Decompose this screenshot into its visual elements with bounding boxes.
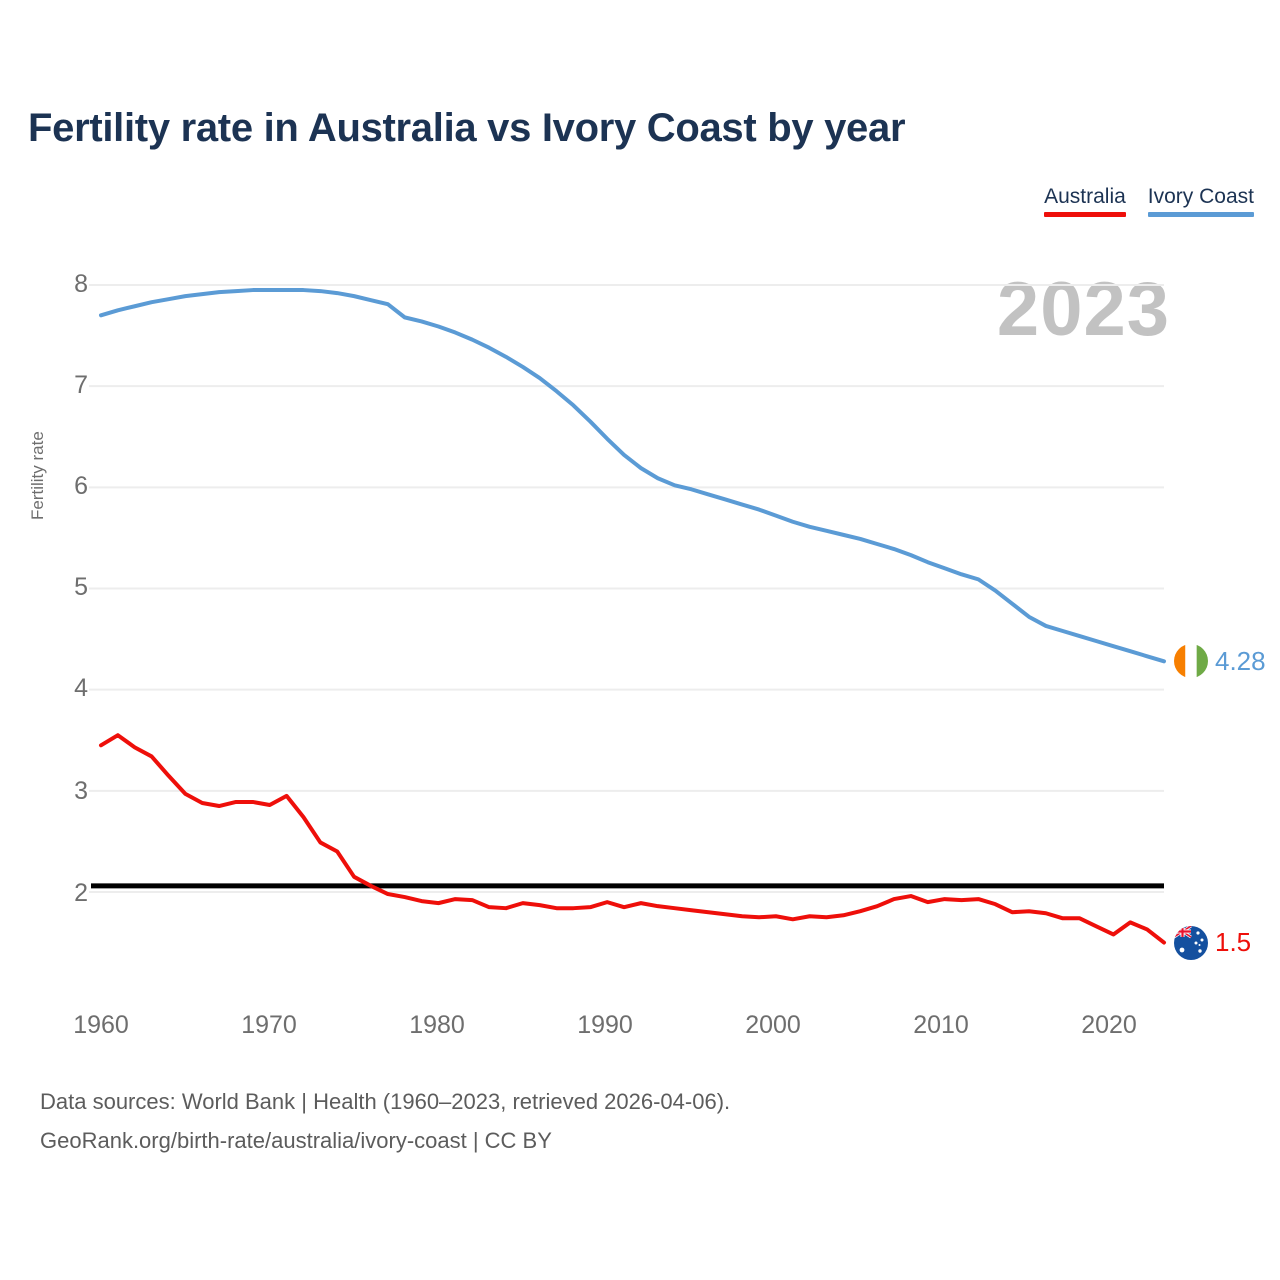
footer-line-1: Data sources: World Bank | Health (1960–… [40, 1082, 730, 1121]
footer-line-2: GeoRank.org/birth-rate/australia/ivory-c… [40, 1121, 730, 1160]
end-label-australia: 1.5 [1174, 926, 1251, 960]
end-value-ivory-coast: 4.28 [1215, 646, 1266, 677]
series-line-ivory-coast [101, 290, 1164, 661]
series-line-australia [101, 735, 1164, 942]
footer-attribution: Data sources: World Bank | Health (1960–… [40, 1082, 730, 1160]
chart-page: Fertility rate in Australia vs Ivory Coa… [0, 0, 1280, 1280]
ivory-coast-flag-icon [1174, 644, 1208, 678]
end-label-ivory-coast: 4.28 [1174, 644, 1266, 678]
end-value-australia: 1.5 [1215, 927, 1251, 958]
australia-flag-icon [1174, 926, 1208, 960]
